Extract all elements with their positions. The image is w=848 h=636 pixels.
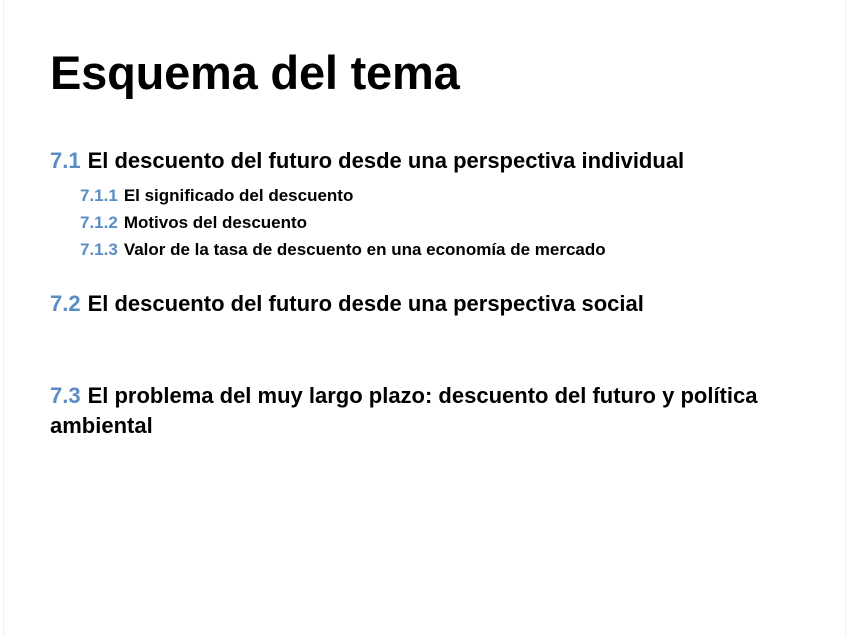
outline-gap-1: [50, 263, 840, 289]
outline-subitem-number: 7.1.2: [80, 213, 118, 232]
outline-section-7-3: 7.3El problema del muy largo plazo: desc…: [50, 381, 840, 441]
outline-subitem-7-1-1: 7.1.1El significado del descuento: [50, 182, 840, 209]
outline-subitem-text: El significado del descuento: [124, 186, 354, 205]
slide-right-border: [845, 0, 846, 636]
slide-left-border: [3, 0, 4, 636]
outline-subitem-7-1-3: 7.1.3Valor de la tasa de descuento en un…: [50, 236, 840, 263]
outline-section-number: 7.2: [50, 291, 81, 316]
outline-section-text: El descuento del futuro desde una perspe…: [88, 148, 685, 173]
presentation-slide: Esquema del tema 7.1El descuento del fut…: [0, 0, 848, 636]
outline-section-number: 7.1: [50, 148, 81, 173]
outline-section-7-1: 7.1El descuento del futuro desde una per…: [50, 146, 840, 176]
slide-title: Esquema del tema: [50, 48, 460, 99]
outline-subitem-7-1-2: 7.1.2Motivos del descuento: [50, 209, 840, 236]
outline-subitem-number: 7.1.1: [80, 186, 118, 205]
outline-sublist-7-1: 7.1.1El significado del descuento 7.1.2M…: [50, 182, 840, 264]
outline-subitem-text: Valor de la tasa de descuento en una eco…: [124, 240, 606, 259]
outline-section-7-2: 7.2El descuento del futuro desde una per…: [50, 289, 840, 319]
outline-section-number: 7.3: [50, 383, 81, 408]
outline-section-text: El descuento del futuro desde una perspe…: [88, 291, 644, 316]
outline-subitem-text: Motivos del descuento: [124, 213, 307, 232]
outline-gap-2: [50, 319, 840, 381]
outline-subitem-number: 7.1.3: [80, 240, 118, 259]
outline-list: 7.1El descuento del futuro desde una per…: [50, 146, 840, 441]
outline-section-text: El problema del muy largo plazo: descuen…: [50, 383, 757, 438]
